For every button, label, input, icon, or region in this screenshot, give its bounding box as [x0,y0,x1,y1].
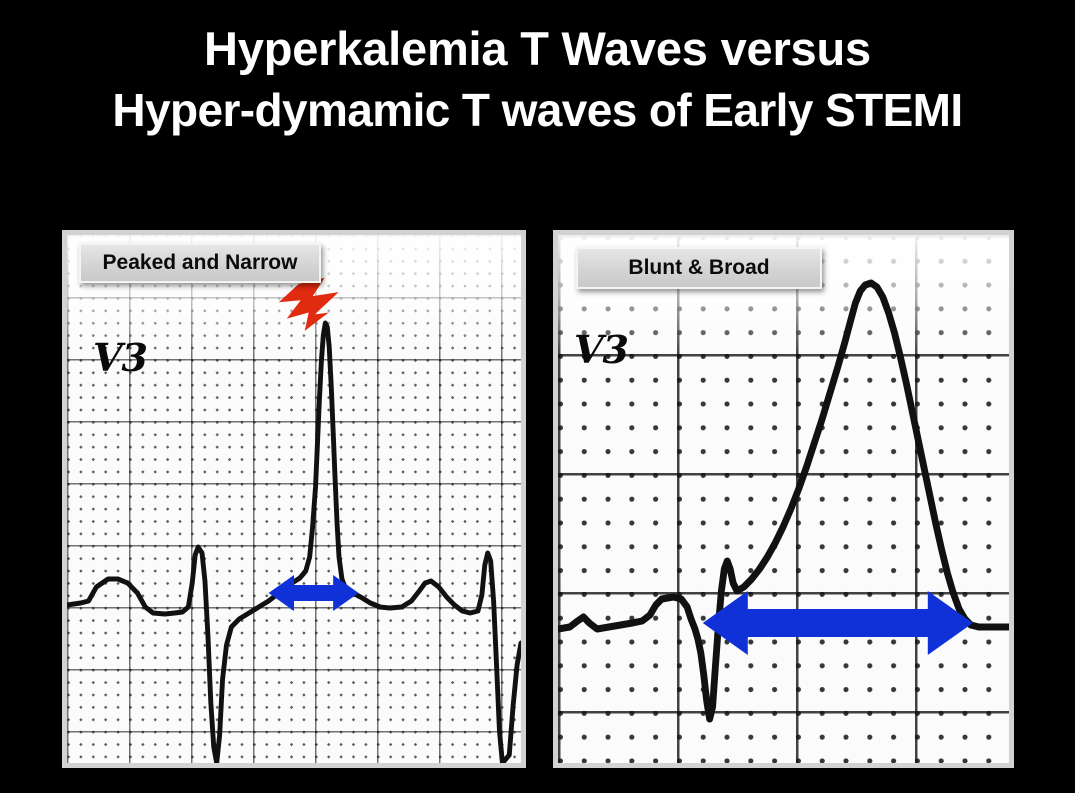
callout-peaked-and-narrow: Peaked and Narrow [79,243,321,283]
callout-label-left: Peaked and Narrow [103,251,298,275]
lead-label-v3-left: V3 [93,335,147,380]
title-line-2: Hyper-dymamic T waves of Early STEMI [0,80,1075,141]
callout-blunt-and-broad: Blunt & Broad [576,247,822,289]
slide-title: Hyperkalemia T Waves versus Hyper-dymami… [0,18,1075,141]
title-line-1: Hyperkalemia T Waves versus [0,18,1075,80]
ecg-grid-paper [558,235,1009,763]
ecg-panel-stemi: Blunt & Broad V3 [553,230,1014,768]
callout-label-right: Blunt & Broad [628,256,769,280]
ecg-panel-hyperkalemia: Peaked and Narrow V3 [62,230,526,768]
ecg-grid-paper [67,235,521,763]
lead-label-v3-right: V3 [574,327,628,372]
